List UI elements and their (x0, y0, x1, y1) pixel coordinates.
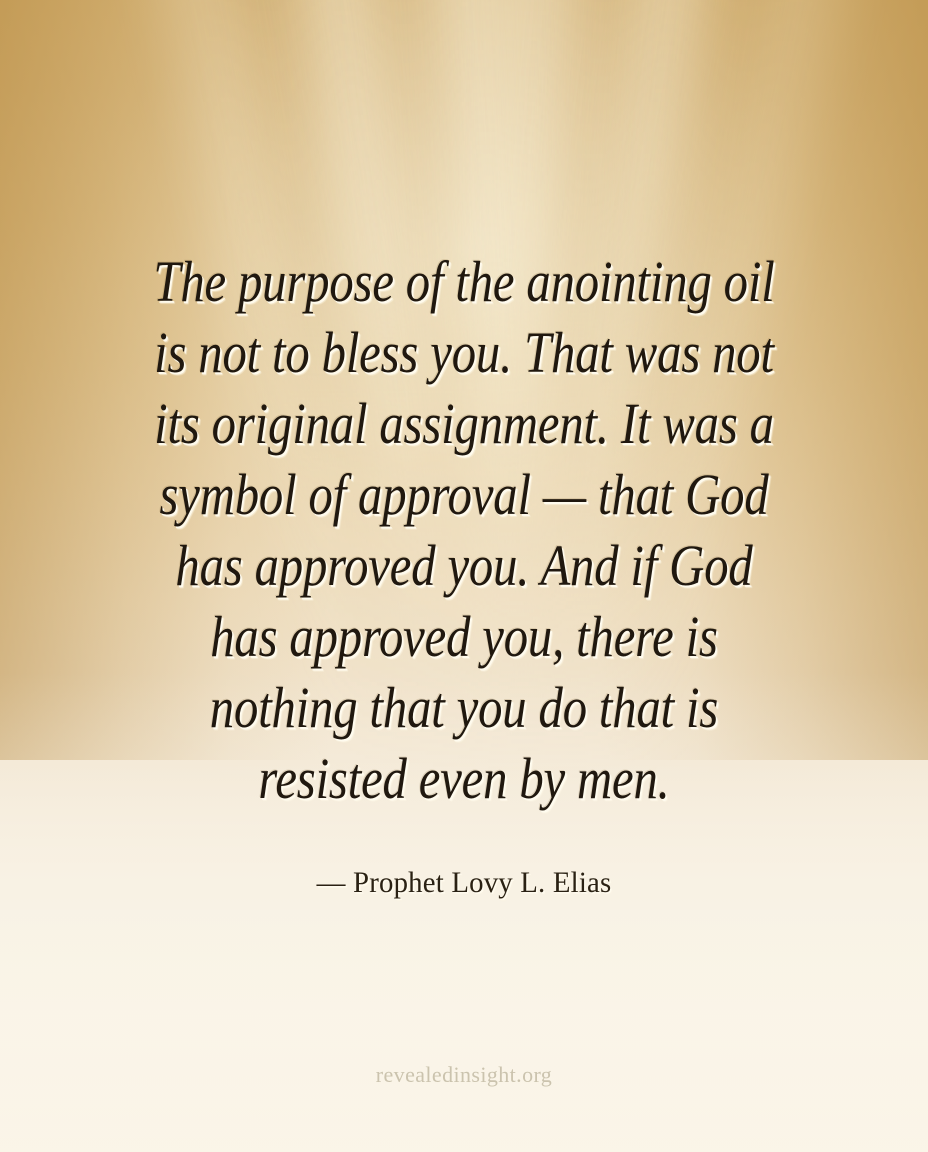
quote-block: The purpose of the anointing oil is not … (94, 246, 834, 902)
footer: revealedinsight.org (0, 1062, 928, 1088)
quote-card: The purpose of the anointing oil is not … (0, 0, 928, 1152)
quote-attribution: — Prophet Lovy L. Elias (109, 814, 819, 902)
site-credit: revealedinsight.org (376, 1062, 552, 1087)
card-content: The purpose of the anointing oil is not … (0, 0, 928, 1152)
quote-text: The purpose of the anointing oil is not … (153, 246, 775, 814)
